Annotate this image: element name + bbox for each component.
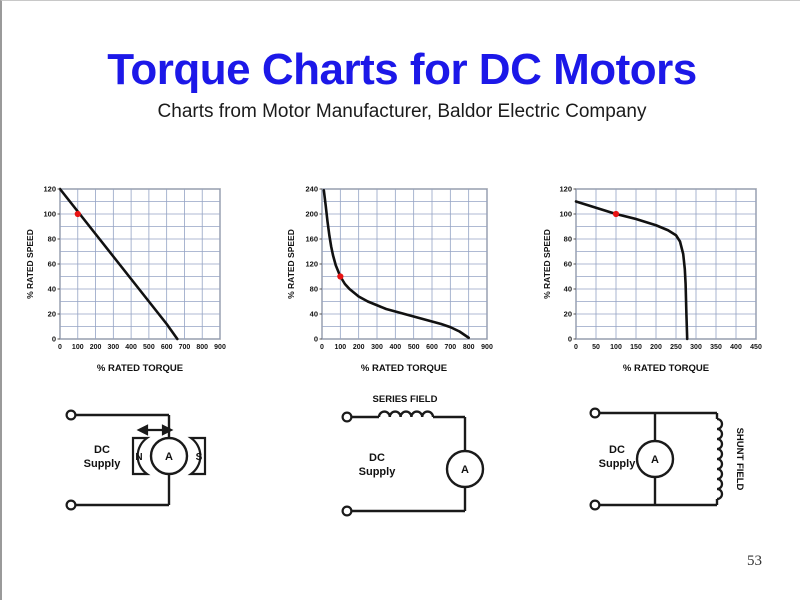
chart-3-plot: 050100150200250300350400450 020406080100… [544,185,762,374]
circuit-permanent-magnet: A N S DC Supply [57,393,257,523]
y-tick-labels: 04080120160200240 [305,185,322,344]
south-pole-label: S [196,452,203,463]
y-tick-label: 40 [48,285,56,294]
chart-2-svg: 0100200300400500600700800900 04080120160… [279,179,519,379]
circuit-series-motor: SERIES FIELD A DC Supply [327,389,517,519]
terminal-bottom-icon [67,501,76,510]
y-tick-label: 20 [564,310,572,319]
terminal-bottom-icon [591,501,600,510]
chart-2-plot: 0100200300400500600700800900 04080120160… [286,185,493,374]
y-tick-label: 40 [564,285,572,294]
y-tick-label: 0 [568,335,572,344]
x-tick-label: 500 [408,344,420,351]
x-tick-label: 700 [179,344,191,351]
x-tick-label: 200 [650,344,662,351]
terminal-top-icon [67,411,76,420]
supply-label-line1: DC [369,452,385,464]
x-tick-label: 50 [592,344,600,351]
x-tick-label: 0 [320,344,324,351]
series-field-label: SERIES FIELD [373,394,438,405]
x-tick-label: 400 [389,344,401,351]
y-tick-label: 60 [564,260,572,269]
y-tick-label: 120 [305,260,318,269]
chart-shunt-motor: 050100150200250300350400450 020406080100… [544,179,794,379]
terminal-top-icon [591,409,600,418]
armature-label: A [461,464,469,476]
y-tick-labels: 020406080100120 [43,185,60,344]
x-tick-label: 400 [125,344,137,351]
x-tick-labels: 0100200300400500600700800900 [58,344,226,351]
y-tick-label: 100 [559,210,572,219]
y-tick-label: 0 [314,335,318,344]
x-tick-label: 800 [463,344,475,351]
rated-point-marker [75,211,81,217]
north-pole-label: N [135,452,142,463]
y-tick-label: 80 [48,235,56,244]
x-tick-label: 100 [334,344,346,351]
chart-3-svg: 050100150200250300350400450 020406080100… [544,179,794,379]
x-tick-label: 600 [161,344,173,351]
x-tick-label: 200 [90,344,102,351]
x-tick-label: 450 [750,344,762,351]
y-tick-label: 160 [305,235,318,244]
y-tick-label: 80 [564,235,572,244]
supply-label-line1: DC [609,444,625,456]
x-tick-label: 150 [630,344,642,351]
x-tick-label: 100 [72,344,84,351]
x-tick-label: 600 [426,344,438,351]
circuit-shunt-motor: A SHUNT FIELD DC Supply [577,393,767,523]
supply-label-line2: Supply [599,458,637,470]
x-tick-label: 300 [107,344,119,351]
circuit-2-svg: SERIES FIELD A DC Supply [327,389,517,519]
y-tick-label: 120 [43,185,56,194]
terminal-top-icon [343,413,352,422]
y-axis-label: % RATED SPEED [25,229,35,299]
x-tick-label: 100 [610,344,622,351]
y-tick-label: 80 [310,285,318,294]
chart-1-svg: 0100200300400500600700800900 02040608010… [20,179,250,379]
armature-label: A [165,451,173,463]
x-tick-label: 0 [574,344,578,351]
y-tick-label: 0 [52,335,56,344]
x-tick-label: 900 [481,344,493,351]
y-tick-label: 120 [559,185,572,194]
x-axis-label: % RATED TORQUE [361,363,447,374]
x-tick-labels: 050100150200250300350400450 [574,344,762,351]
series-field-coil-icon [379,412,433,417]
slide-canvas: Torque Charts for DC Motors Charts from … [0,0,800,600]
x-tick-label: 250 [670,344,682,351]
armature-label: A [651,454,659,466]
x-tick-label: 300 [371,344,383,351]
rated-point-marker [613,211,619,217]
y-axis-label: % RATED SPEED [544,229,552,299]
page-subtitle: Charts from Motor Manufacturer, Baldor E… [2,101,800,123]
slide-number: 53 [747,553,762,570]
x-tick-label: 900 [214,344,226,351]
terminal-bottom-icon [343,507,352,516]
y-axis-label: % RATED SPEED [286,229,296,299]
page-title: Torque Charts for DC Motors [2,45,800,95]
data-markers [337,273,343,279]
x-axis-label: % RATED TORQUE [623,363,709,374]
y-tick-label: 100 [43,210,56,219]
x-tick-label: 350 [710,344,722,351]
chart-permanent-magnet: 0100200300400500600700800900 02040608010… [20,179,250,379]
y-tick-label: 200 [305,210,318,219]
supply-label-line1: DC [94,444,110,456]
x-tick-label: 800 [196,344,208,351]
double-arrow-icon [139,426,171,434]
shunt-field-label: SHUNT FIELD [734,428,745,491]
supply-label-line2: Supply [359,466,397,478]
x-tick-label: 700 [444,344,456,351]
shunt-field-coil-icon [717,419,722,499]
x-tick-label: 300 [690,344,702,351]
x-tick-labels: 0100200300400500600700800900 [320,344,493,351]
x-tick-label: 400 [730,344,742,351]
circuit-1-svg: A N S DC Supply [57,393,257,523]
x-tick-label: 500 [143,344,155,351]
chart-series-motor: 0100200300400500600700800900 04080120160… [279,179,519,379]
circuit-3-svg: A SHUNT FIELD DC Supply [577,393,767,523]
data-markers [613,211,619,217]
x-tick-label: 200 [353,344,365,351]
y-tick-labels: 020406080100120 [559,185,576,344]
x-tick-label: 0 [58,344,62,351]
y-tick-label: 20 [48,310,56,319]
data-markers [75,211,81,217]
x-axis-label: % RATED TORQUE [97,363,183,374]
y-tick-label: 40 [310,310,318,319]
chart-1-plot: 0100200300400500600700800900 02040608010… [25,185,226,374]
y-tick-label: 240 [305,185,318,194]
rated-point-marker [337,273,343,279]
supply-label-line2: Supply [84,458,122,470]
y-tick-label: 60 [48,260,56,269]
